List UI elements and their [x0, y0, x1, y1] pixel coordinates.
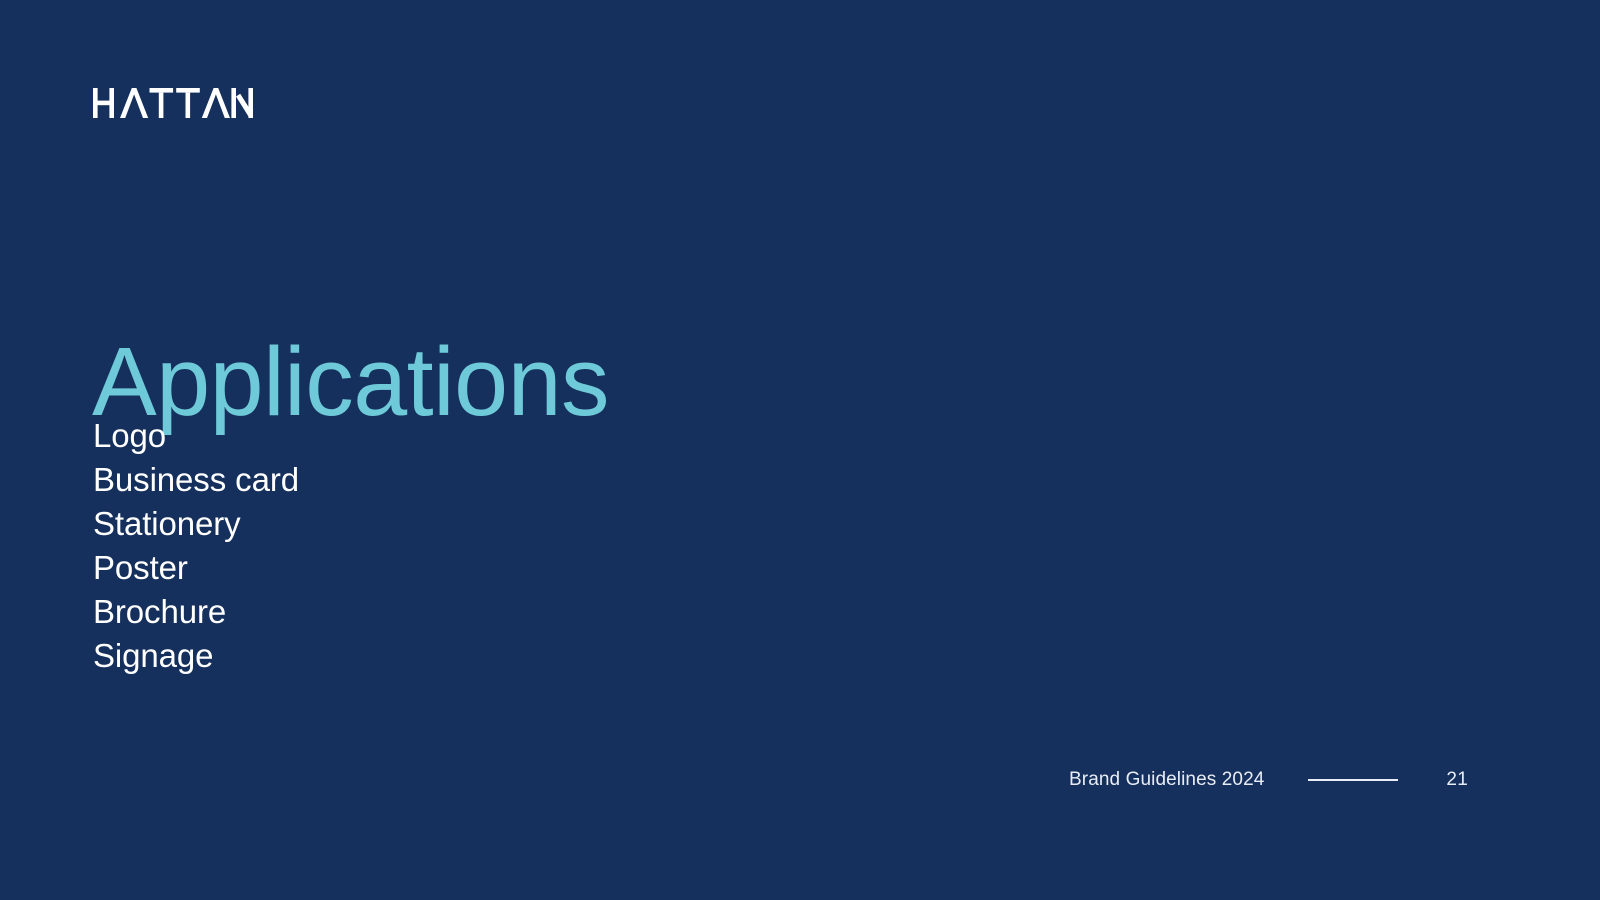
footer-label: Brand Guidelines 2024: [1069, 769, 1264, 791]
slide-applications: HATTAN: [0, 0, 1600, 900]
list-item: Brochure: [93, 590, 299, 634]
slide-footer: Brand Guidelines 2024 21: [1069, 766, 1468, 794]
page-number: 21: [1446, 769, 1468, 791]
footer-divider: [1308, 779, 1398, 781]
list-item: Signage: [93, 634, 299, 678]
applications-list: Logo Business card Stationery Poster Bro…: [93, 414, 299, 678]
list-item: Business card: [93, 458, 299, 502]
list-item: Logo: [93, 414, 299, 458]
brand-logo: HATTAN: [93, 86, 253, 118]
list-item: Stationery: [93, 502, 299, 546]
hattan-wordmark-icon: [93, 88, 253, 118]
list-item: Poster: [93, 546, 299, 590]
